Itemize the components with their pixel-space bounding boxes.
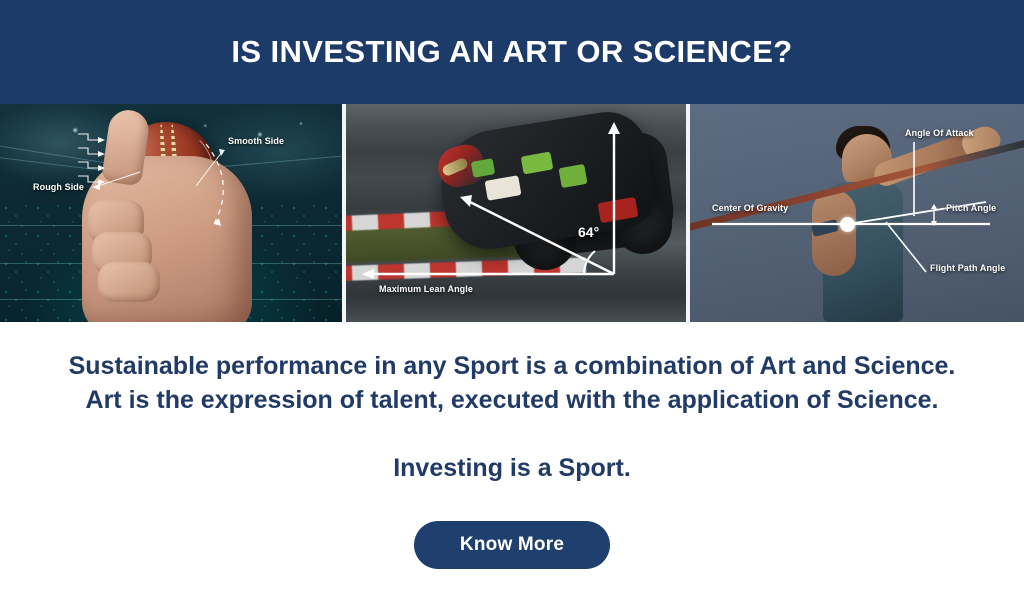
- annotation-angle-of-attack: Angle Of Attack: [905, 128, 974, 138]
- annotation-maximum-lean-angle: Maximum Lean Angle: [379, 284, 473, 294]
- panel-motorcycle: 64° Maximum Lean Angle: [342, 104, 690, 322]
- lede-text: Sustainable performance in any Sport is …: [69, 350, 956, 418]
- annotation-pitch-angle: Pitch Angle: [946, 203, 996, 213]
- lede-line-1: Sustainable performance in any Sport is …: [69, 350, 956, 384]
- annotation-lean-angle-value: 64°: [578, 224, 599, 240]
- annotation-center-of-gravity: Center Of Gravity: [712, 203, 788, 213]
- banner-header: IS INVESTING AN ART OR SCIENCE?: [0, 0, 1024, 104]
- annotation-smooth-side: Smooth Side: [228, 136, 284, 146]
- annotation-rough-side: Rough Side: [33, 182, 84, 192]
- annotation-flight-path-angle: Flight Path Angle: [930, 263, 1005, 273]
- know-more-button[interactable]: Know More: [414, 521, 610, 569]
- airflow-arrows-icon: [0, 104, 342, 322]
- cta-container: Know More: [414, 521, 610, 569]
- panel-javelin: Center Of Gravity Angle Of Attack Pitch …: [690, 104, 1024, 322]
- sports-image-band: Rough Side Smooth Side: [0, 104, 1024, 322]
- lede-line-2: Art is the expression of talent, execute…: [69, 384, 956, 418]
- panel-cricket: Rough Side Smooth Side: [0, 104, 342, 322]
- page-title: IS INVESTING AN ART OR SCIENCE?: [231, 34, 792, 70]
- content-section: Sustainable performance in any Sport is …: [0, 322, 1024, 600]
- tagline-text: Investing is a Sport.: [393, 454, 631, 483]
